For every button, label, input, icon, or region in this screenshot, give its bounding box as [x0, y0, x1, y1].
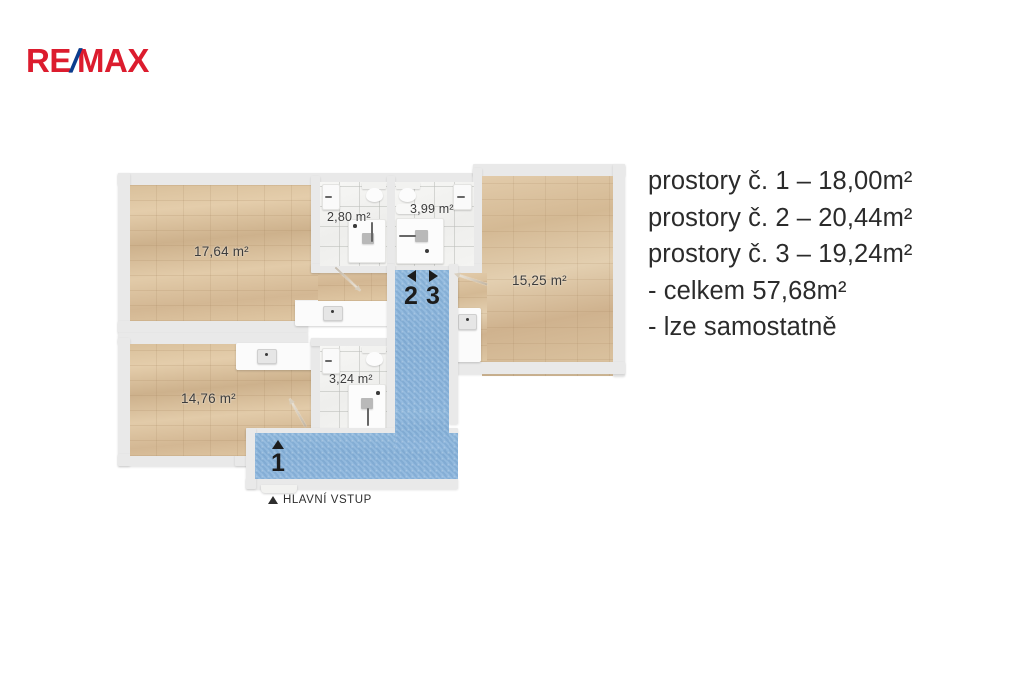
cabinet-handle-bath-399: [457, 196, 465, 198]
shower-valve-bath-399: [415, 230, 428, 242]
entrance-threshold: [261, 485, 297, 493]
arrow-up-icon-unit-1: [272, 440, 284, 449]
tap-dot-bottom-left: [265, 353, 268, 356]
shower-rail-bath-324: [367, 408, 369, 426]
kitchen-counter-top-left: [295, 301, 392, 326]
area-label-17-64: 17,64 m²: [194, 244, 249, 259]
shower-rail-bath-280: [371, 222, 373, 242]
toilet-bath-399: [399, 188, 416, 202]
cabinet-handle-bath-324: [325, 360, 332, 362]
floor-plan-drawing: 17,64 m² 2,80 m² 3,99 m² 15,25 m² 14,76 …: [105, 160, 635, 515]
drain-dot-bath-280: [353, 224, 357, 228]
wall-outer-left-lower: [118, 338, 130, 466]
wall-outer-left-upper: [118, 173, 130, 333]
logo-text-re: RE: [26, 44, 71, 77]
cabinet-handle-bath-280: [325, 196, 332, 198]
wall-bath-399-right: [473, 168, 482, 272]
arrow-up-icon-entrance: [268, 496, 278, 504]
arrow-left-icon-unit-2: [407, 270, 416, 282]
unit-marker-3: 3: [420, 270, 446, 309]
logo-text-max: MAX: [77, 44, 149, 77]
info-line-unit-2: prostory č. 2 – 20,44m²: [648, 200, 1004, 237]
drain-dot-bath-399: [425, 249, 429, 253]
drain-dot-bath-324: [376, 391, 380, 395]
area-label-3-24: 3,24 m²: [329, 372, 373, 386]
wall-mid-horizontal-left: [118, 321, 308, 333]
wall-hall-vertical-right: [449, 264, 458, 424]
wall-outer-right-upper: [613, 164, 625, 376]
wall-bath-324-top: [311, 338, 395, 346]
wall-bath-324-left: [311, 338, 320, 438]
arrow-right-icon-unit-3: [429, 270, 438, 282]
unit-number-1: 1: [271, 449, 285, 477]
wall-bath-280-right: [387, 176, 395, 272]
sink-top-left: [323, 306, 343, 321]
tap-dot-top-left: [331, 310, 334, 313]
toilet-bath-324: [366, 352, 383, 366]
shower-rail-bath-399: [399, 235, 416, 237]
hall-floor-corner: [395, 410, 449, 450]
sink-bottom-left: [257, 349, 277, 364]
wall-outer-top-right: [473, 164, 625, 176]
info-line-unit-1: prostory č. 1 – 18,00m²: [648, 163, 1004, 200]
remax-logo: RE/MAX: [26, 42, 149, 78]
area-label-2-80: 2,80 m²: [327, 210, 371, 224]
info-line-separate: - lze samostatně: [648, 309, 1004, 346]
sink-top-right: [458, 314, 477, 330]
unit-marker-1: 1: [263, 440, 293, 476]
unit-number-2: 2: [404, 282, 418, 310]
main-entrance-caption: HLAVNÍ VSTUP: [268, 494, 372, 506]
info-line-total: - celkem 57,68m²: [648, 273, 1004, 310]
area-label-14-76: 14,76 m²: [181, 391, 236, 406]
info-line-unit-3: prostory č. 3 – 19,24m²: [648, 236, 1004, 273]
tap-dot-top-right: [466, 318, 469, 321]
area-label-15-25: 15,25 m²: [512, 273, 567, 288]
wall-hall-vertical-left: [387, 264, 395, 438]
wall-room-1525-bottom: [449, 362, 625, 374]
area-label-3-99: 3,99 m²: [410, 202, 454, 216]
entrance-label-text: HLAVNÍ VSTUP: [283, 494, 372, 506]
wall-bath-280-left: [311, 176, 320, 272]
property-info-panel: prostory č. 1 – 18,00m² prostory č. 2 – …: [648, 163, 1004, 346]
unit-number-3: 3: [426, 282, 440, 310]
toilet-bath-280: [366, 188, 383, 202]
